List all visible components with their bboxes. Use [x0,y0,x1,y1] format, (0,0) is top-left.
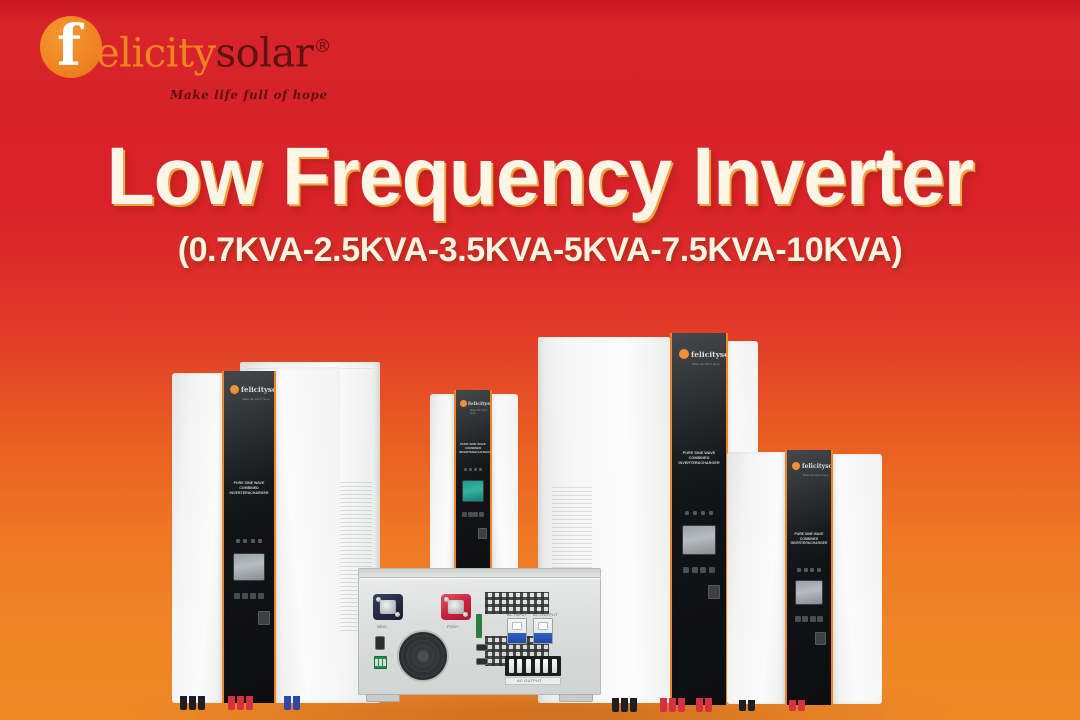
breaker-lever-icon [538,622,548,629]
panel-logo-circle-icon [230,385,239,394]
rack-front-panel[interactable]: NEG- POS+ [358,577,601,695]
power-switch[interactable] [478,528,487,539]
negative-terminal-label: NEG- [377,624,388,629]
inverter-right-panel [833,454,882,704]
rs485-port[interactable] [476,658,488,665]
ac-terminals-blue[interactable] [284,696,300,710]
screw-icon [565,648,569,652]
panel-brand-logo: felicitysolar [679,349,728,359]
control-buttons[interactable] [683,567,715,573]
dc-terminals-black[interactable] [180,696,205,710]
pcb-strip [476,614,482,638]
panel-logo-circle-icon [679,349,689,359]
panel-logo-text: felicitysolar [802,463,833,470]
panel-product-text: PURE SINE WAVE COMBINED INVERTER&CHARGER [790,532,828,546]
screw-icon [656,377,660,381]
dc-terminals-red[interactable] [228,696,253,710]
inverter-front-panel[interactable]: felicitysolar Make life full of hope PUR… [222,371,276,703]
screw-icon [565,600,569,604]
cooling-fan-grille [397,630,449,682]
negative-terminal[interactable] [373,594,403,620]
panel-brand-logo: felicitysolar [792,462,833,470]
screw-icon [590,584,594,588]
power-switch[interactable] [258,611,270,625]
rack-foot-right [559,694,593,702]
panel-logo-tagline: Make life full of hope [692,362,720,366]
led-indicators [797,568,821,572]
dc-terminals-red-2[interactable] [696,698,712,712]
panel-product-text: PURE SINE WAVE COMBINED INVERTER&CHARGER [676,451,722,466]
inverter-front-panel[interactable]: felicitysolar Make life full of hope PUR… [670,333,728,705]
led-indicators [464,468,482,471]
dc-terminals-red[interactable] [660,698,685,712]
panel-logo-tagline: Make life full of hope [242,397,270,401]
panel-logo-text: felicitysolar [241,385,276,394]
vent-grid-top [485,592,549,614]
dc-terminals-red[interactable] [789,700,805,711]
breaker-input-label: AC INPUT [507,612,527,617]
panel-product-text: PURE SINE WAVE COMBINED INVERTER&CHARGER [228,481,270,496]
rack-foot-left [366,694,400,702]
lcd-display [682,525,716,555]
panel-brand-logo: felicitysolar [230,385,276,394]
breaker-lever-icon [512,622,522,629]
screw-icon [577,674,581,678]
lcd-display [233,553,265,581]
panel-logo-text: felicitysolar [468,401,492,407]
screw-icon [365,684,369,688]
rack-top-cover [358,568,601,577]
rack-mount-inverter[interactable]: NEG- POS+ [358,577,601,695]
panel-logo-circle-icon [792,462,800,470]
inverter-front-panel[interactable]: felicitysolar Make life full of hope PUR… [785,450,833,705]
screw-icon [656,637,660,641]
power-switch[interactable] [815,632,826,645]
control-buttons[interactable] [795,616,823,622]
panel-logo-circle-icon [460,400,467,407]
terminal-block-label: AC OUTPUT [517,678,542,683]
product-banner: f elicitysolar® Make life full of hope L… [0,0,1080,720]
lcd-display [795,580,823,605]
product-group: felicitysolar Make life full of hope PUR… [0,0,1080,720]
panel-brand-logo: felicitysolar [460,400,492,407]
panel-logo-text: felicitysolar [691,350,728,359]
dc-terminals-black[interactable] [612,698,637,712]
screw-icon [480,583,484,587]
panel-logo-tagline: Make life full of hope [470,409,490,415]
control-buttons[interactable] [234,593,264,599]
comm-port[interactable] [375,636,385,650]
breaker-output-label: AC OUTPUT [533,612,558,617]
led-indicators [685,511,713,515]
terminal-bolt-icon [448,600,464,614]
circuit-breaker-output[interactable] [533,618,553,644]
screw-icon [656,507,660,511]
inverter-left-panel [172,373,222,703]
inverter-right-panel [276,367,340,703]
panel-product-text: PURE SINE WAVE COMBINED INVERTER&CHARGER [459,442,487,454]
screw-icon [590,684,594,688]
control-buttons[interactable] [462,512,484,517]
led-indicators [236,539,262,543]
positive-terminal-label: POS+ [447,624,459,629]
screw-icon [365,584,369,588]
green-terminal-block[interactable] [374,656,387,669]
positive-terminal[interactable] [441,594,471,620]
rs232-port[interactable] [476,644,488,651]
fan-hub-icon [418,651,429,662]
panel-logo-tagline: Make life full of hope [803,473,829,477]
large-left-inverter[interactable]: felicitysolar Make life full of hope PUR… [172,363,380,703]
ac-terminal-block[interactable] [505,656,561,676]
inverter-left-panel [727,452,785,704]
power-switch[interactable] [708,585,720,599]
dc-terminals-black[interactable] [739,700,755,711]
terminal-bolt-icon [380,600,396,614]
medium-right-inverter[interactable]: felicitysolar Make life full of hope PUR… [727,450,882,705]
lcd-display [462,480,484,502]
circuit-breaker-input[interactable] [507,618,527,644]
